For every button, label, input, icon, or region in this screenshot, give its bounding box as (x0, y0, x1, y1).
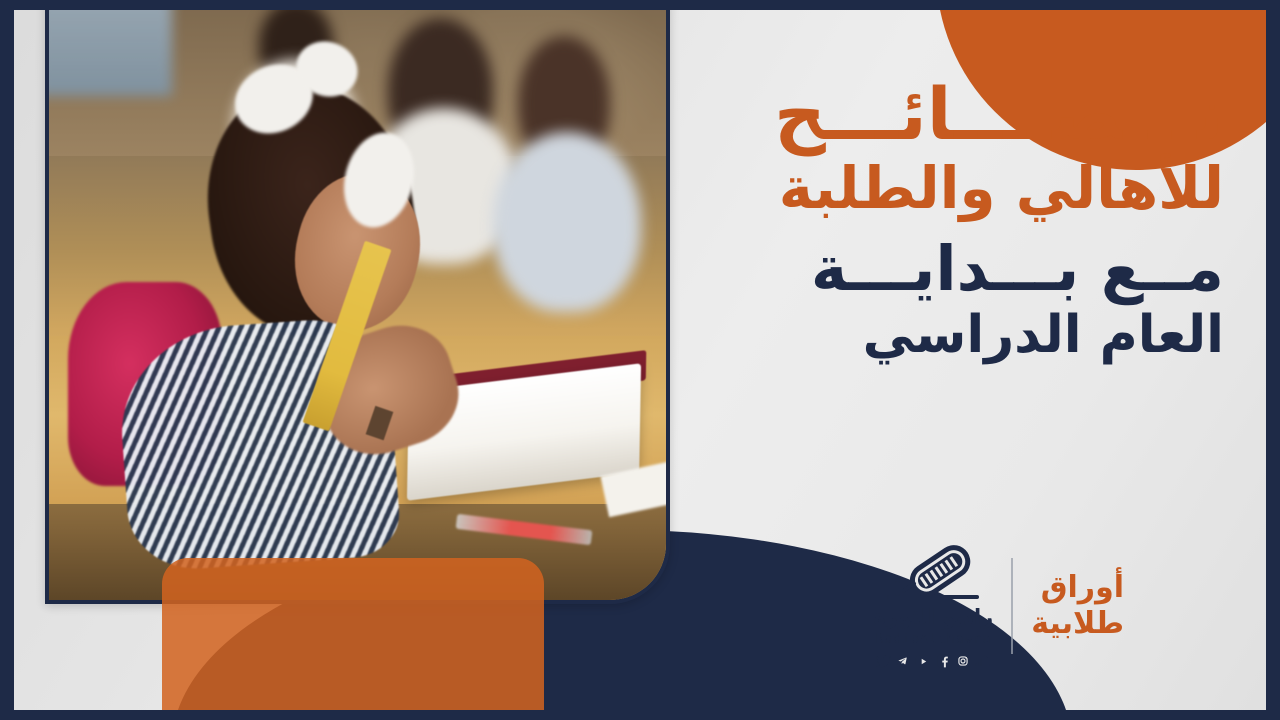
series-label: أوراق طلابية (1031, 570, 1124, 641)
telegram-icon[interactable] (896, 654, 910, 668)
series-label-line-2: طلابية (1031, 606, 1124, 641)
photo-background-child (493, 132, 641, 312)
headline-line-1: نـــصــــائـــح (664, 76, 1224, 152)
orange-accent-bar (162, 558, 544, 710)
logo-arabic-name: راديو الثورة (874, 607, 994, 628)
radio-logo: راديو الثورة RadioAlthawra (874, 543, 994, 668)
instagram-icon[interactable] (956, 654, 970, 668)
photo-window (45, 10, 172, 96)
headline-line-2: للأهالي والطلبة (664, 158, 1224, 219)
facebook-icon[interactable] (937, 654, 951, 668)
logo-latin-name: RadioAlthawra (875, 633, 991, 646)
twitter-icon[interactable] (876, 655, 891, 668)
headline-line-3: مــع بـــدايـــة (664, 236, 1224, 302)
headline-line-4: العام الدراسي (664, 308, 1224, 363)
youtube-icon[interactable] (915, 655, 932, 668)
series-label-line-1: أوراق (1031, 570, 1124, 605)
photo-content (49, 10, 666, 600)
branding-block: أوراق طلابية (874, 543, 1125, 668)
classroom-photo (45, 10, 670, 604)
social-icons-row (876, 654, 990, 668)
soundcloud-icon[interactable] (975, 655, 990, 668)
poster-canvas: نـــصــــائـــح للأهالي والطلبة مــع بــ… (0, 0, 1280, 720)
poster-panel: نـــصــــائـــح للأهالي والطلبة مــع بــ… (14, 10, 1266, 710)
brand-divider (1011, 558, 1013, 654)
microphone-icon (881, 543, 985, 605)
headline-block: نـــصــــائـــح للأهالي والطلبة مــع بــ… (664, 76, 1224, 369)
